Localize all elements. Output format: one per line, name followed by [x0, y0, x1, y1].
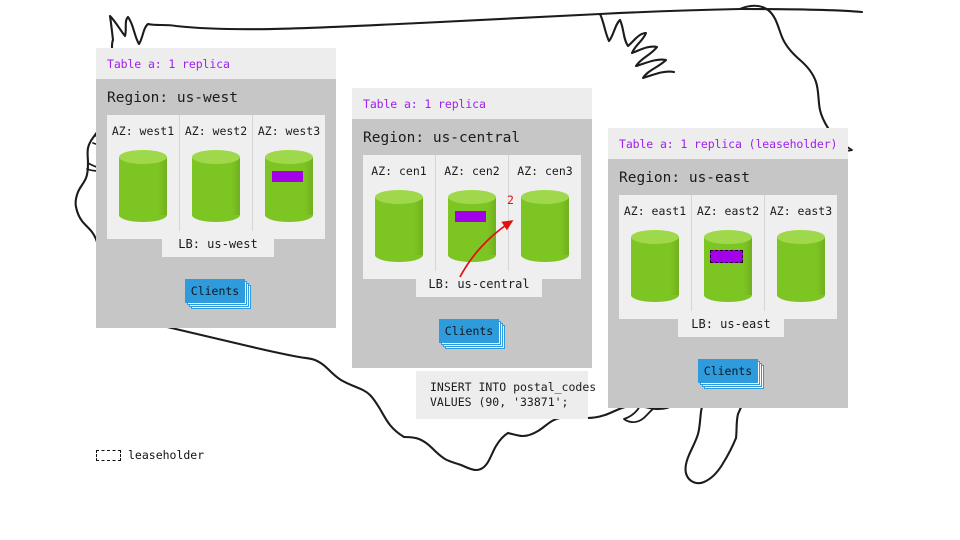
region-panel-us-central: Table a: 1 replica Region: us-central AZ…	[352, 88, 592, 368]
diagram-canvas: Table a: 1 replica Region: us-west AZ: w…	[0, 0, 960, 540]
az-cell-west1[interactable]: AZ: west1	[107, 115, 179, 239]
range-replica-marker-cen2	[455, 211, 486, 222]
cylinder-top-ellipse	[704, 230, 752, 244]
az-cell-cen1[interactable]: AZ: cen1	[363, 155, 435, 279]
clients-button-us-central[interactable]: Clients	[439, 319, 501, 345]
cylinder-top-ellipse	[265, 150, 313, 164]
az-label-west3: AZ: west3	[258, 124, 320, 138]
region-name-us-west: Region: us-west	[96, 79, 336, 115]
cylinder-body	[448, 197, 496, 255]
node-cylinder-east1[interactable]	[631, 230, 679, 302]
az-label-cen2: AZ: cen2	[444, 164, 499, 178]
az-strip-us-west: AZ: west1 AZ: west2	[107, 115, 325, 239]
sql-line-1: INSERT INTO postal_codes	[430, 380, 576, 395]
az-cell-west2[interactable]: AZ: west2	[179, 115, 252, 239]
replica-label-us-west: Table a: 1 replica	[107, 57, 230, 71]
node-cylinder-cen1[interactable]	[375, 190, 423, 262]
region-title-band-us-west: Table a: 1 replica	[96, 48, 336, 79]
load-balancer-us-central[interactable]: LB: us-central	[416, 271, 542, 297]
az-label-east2: AZ: east2	[697, 204, 759, 218]
node-cylinder-cen2[interactable]	[448, 190, 496, 262]
legend: leaseholder	[96, 448, 204, 462]
node-cylinder-west2[interactable]	[192, 150, 240, 222]
region-title-band-us-east: Table a: 1 replica (leaseholder)	[608, 128, 848, 159]
az-label-cen1: AZ: cen1	[371, 164, 426, 178]
az-label-east3: AZ: east3	[770, 204, 832, 218]
clients-label-us-east[interactable]: Clients	[698, 359, 758, 383]
az-cell-cen2[interactable]: AZ: cen2	[435, 155, 508, 279]
az-cell-east1[interactable]: AZ: east1	[619, 195, 691, 319]
cylinder-top-ellipse	[375, 190, 423, 204]
az-label-cen3: AZ: cen3	[517, 164, 572, 178]
az-cell-west3[interactable]: AZ: west3	[252, 115, 325, 239]
az-label-east1: AZ: east1	[624, 204, 686, 218]
sql-line-2: VALUES (90, '33871';	[430, 395, 576, 410]
clients-label-us-west[interactable]: Clients	[185, 279, 245, 303]
cylinder-body	[265, 157, 313, 215]
region-name-us-east: Region: us-east	[608, 159, 848, 195]
az-strip-us-central: AZ: cen1 AZ: cen2	[363, 155, 581, 279]
az-cell-east3[interactable]: AZ: east3	[764, 195, 837, 319]
az-cell-east2[interactable]: AZ: east2	[691, 195, 764, 319]
cylinder-body	[631, 237, 679, 295]
az-cell-cen3[interactable]: AZ: cen3	[508, 155, 581, 279]
region-panel-us-west: Table a: 1 replica Region: us-west AZ: w…	[96, 48, 336, 328]
region-name-us-central: Region: us-central	[352, 119, 592, 155]
cylinder-top-ellipse	[521, 190, 569, 204]
load-balancer-us-west[interactable]: LB: us-west	[162, 231, 274, 257]
cylinder-top-ellipse	[777, 230, 825, 244]
cylinder-top-ellipse	[631, 230, 679, 244]
cylinder-top-ellipse	[448, 190, 496, 204]
clients-button-us-east[interactable]: Clients	[698, 359, 760, 385]
node-cylinder-west1[interactable]	[119, 150, 167, 222]
node-cylinder-east2[interactable]	[704, 230, 752, 302]
range-leaseholder-marker-east2	[710, 250, 743, 263]
region-panel-us-east: Table a: 1 replica (leaseholder) Region:…	[608, 128, 848, 408]
az-label-west1: AZ: west1	[112, 124, 174, 138]
cylinder-body	[192, 157, 240, 215]
range-replica-marker-west3	[272, 171, 303, 182]
cylinder-body	[375, 197, 423, 255]
replica-label-us-central: Table a: 1 replica	[363, 97, 486, 111]
cylinder-body	[119, 157, 167, 215]
replica-label-us-east: Table a: 1 replica (leaseholder)	[619, 137, 837, 151]
arrow-step-number-2: 2	[507, 193, 514, 207]
node-cylinder-east3[interactable]	[777, 230, 825, 302]
az-label-west2: AZ: west2	[185, 124, 247, 138]
cylinder-body	[704, 237, 752, 295]
cylinder-body	[521, 197, 569, 255]
cylinder-top-ellipse	[192, 150, 240, 164]
cylinder-top-ellipse	[119, 150, 167, 164]
cylinder-body	[777, 237, 825, 295]
dashed-rect-icon	[96, 450, 121, 461]
az-strip-us-east: AZ: east1 AZ: east2	[619, 195, 837, 319]
node-cylinder-cen3[interactable]	[521, 190, 569, 262]
region-title-band-us-central: Table a: 1 replica	[352, 88, 592, 119]
clients-button-us-west[interactable]: Clients	[185, 279, 247, 305]
load-balancer-us-east[interactable]: LB: us-east	[678, 311, 784, 337]
sql-statement-note: INSERT INTO postal_codes VALUES (90, '33…	[416, 371, 588, 419]
clients-label-us-central[interactable]: Clients	[439, 319, 499, 343]
legend-label: leaseholder	[128, 448, 204, 462]
node-cylinder-west3[interactable]	[265, 150, 313, 222]
